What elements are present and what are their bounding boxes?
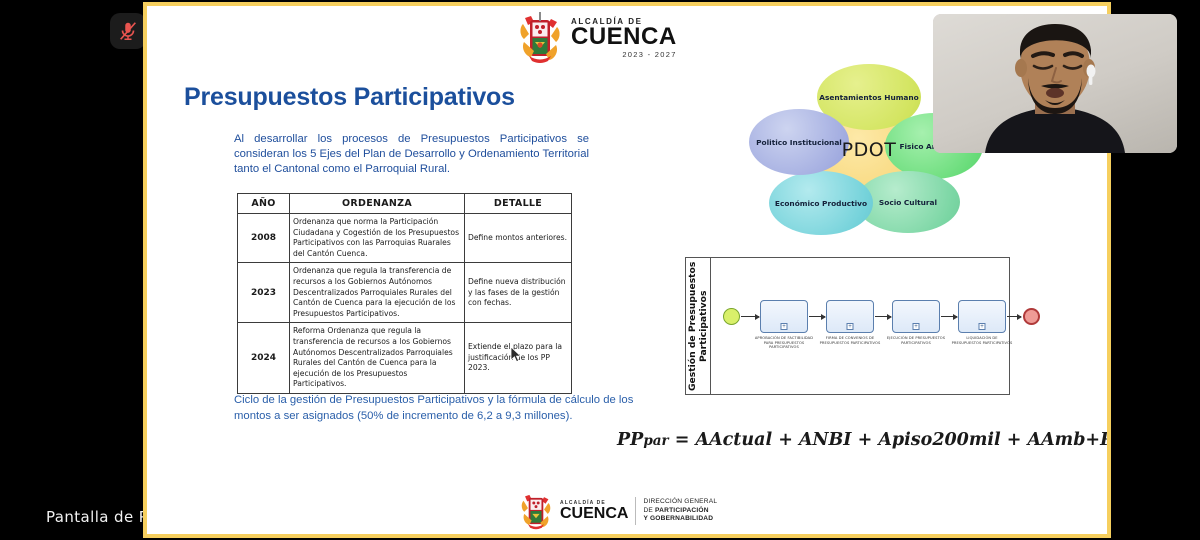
table-header-ordenanza: ORDENANZA xyxy=(290,194,465,214)
meeting-stage: Pantalla de P xyxy=(0,0,1200,540)
pdot-bubble-label: Socio Cultural xyxy=(879,198,937,207)
bpmn-task-label: APROBACIÓN DE FACTIBILIDAD PARA PRESUPUE… xyxy=(753,336,815,350)
cuenca-coat-of-arms-icon xyxy=(519,492,553,530)
brand-line-2: CUENCA xyxy=(571,26,677,49)
table-header-detalle: DETALLE xyxy=(465,194,572,214)
bpmn-task-expand-icon: + xyxy=(979,323,986,330)
ordinances-table: AÑO ORDENANZA DETALLE 2008 Ordenanza que… xyxy=(237,193,572,394)
microphone-muted-badge[interactable] xyxy=(110,13,146,49)
cuenca-coat-of-arms-icon xyxy=(517,12,563,64)
bpmn-arrow xyxy=(741,316,759,317)
bpmn-lane-title-text: Gestión de Presupuestos Participativos xyxy=(687,258,709,394)
pdot-bubble-economico: Económico Productivo xyxy=(769,171,873,235)
footer-dept-line-3: Y GOBERNABILIDAD xyxy=(643,515,717,524)
bpmn-arrow xyxy=(875,316,891,317)
bpmn-lane-title: Gestión de Presupuestos Participativos xyxy=(686,258,711,394)
screen-share-label: Pantalla de P xyxy=(46,508,148,526)
table-row: 2023 Ordenanza que regula la transferenc… xyxy=(238,263,572,323)
bpmn-task-expand-icon: + xyxy=(781,323,788,330)
bpmn-arrow xyxy=(941,316,957,317)
bpmn-end-event xyxy=(1023,308,1040,325)
table-header-row: AÑO ORDENANZA DETALLE xyxy=(238,194,572,214)
bpmn-task-expand-icon: + xyxy=(847,323,854,330)
cell-detalle: Define nueva distribución y las fases de… xyxy=(465,263,572,323)
bpmn-start-event xyxy=(723,308,740,325)
microphone-muted-icon xyxy=(117,20,139,42)
bpmn-task-expand-icon: + xyxy=(913,323,920,330)
cell-year: 2008 xyxy=(238,214,290,263)
brand-lockup-header: ALCALDÍA DE CUENCA 2023 - 2027 xyxy=(517,12,677,64)
brand-years: 2023 - 2027 xyxy=(571,50,677,59)
cell-year: 2024 xyxy=(238,323,290,394)
table-row: 2008 Ordenanza que norma la Participació… xyxy=(238,214,572,263)
bpmn-task-label: LIQUIDACIÓN DE PRESUPUESTOS PARTICIPATIV… xyxy=(951,336,1013,345)
pdot-bubble-label: Asentamientos Humano xyxy=(819,93,918,102)
footer-divider xyxy=(635,497,636,525)
video-participant-tile[interactable] xyxy=(933,14,1177,153)
bpmn-task: + xyxy=(958,300,1006,333)
formula-expression: PPpar = AActual + ANBI + Apiso200mil + A… xyxy=(617,430,1097,450)
formula-lhs: PP xyxy=(617,430,643,450)
bpmn-canvas: + APROBACIÓN DE FACTIBILIDAD PARA PRESUP… xyxy=(711,258,1009,394)
video-participant-figure xyxy=(933,14,1177,153)
bpmn-arrow xyxy=(809,316,825,317)
formula-lhs-subscript: par xyxy=(643,433,668,449)
closing-paragraph: Ciclo de la gestión de Presupuestos Part… xyxy=(234,392,664,424)
page-title: Presupuestos Participativos xyxy=(184,83,515,112)
mouse-cursor xyxy=(510,346,522,363)
bpmn-process-diagram: Gestión de Presupuestos Participativos +… xyxy=(685,257,1010,395)
bpmn-task-label: EJECUCIÓN DE PRESUPUESTOS PARTICIPATIVOS xyxy=(885,336,947,345)
bpmn-arrow xyxy=(1007,316,1021,317)
cell-year: 2023 xyxy=(238,263,290,323)
bpmn-task: + xyxy=(892,300,940,333)
bpmn-task: + xyxy=(760,300,808,333)
intro-paragraph: Al desarrollar los procesos de Presupues… xyxy=(234,132,589,177)
table-header-year: AÑO xyxy=(238,194,290,214)
brand-lockup-footer: ALCALDÍA DE CUENCA DIRECCIÓN GENERAL DE … xyxy=(519,492,717,530)
footer-dept-line-2: DE PARTICIPACIÓN xyxy=(643,507,717,516)
bpmn-task-label: FIRMA DE CONVENIOS DE PRESUPUESTOS PARTI… xyxy=(819,336,881,345)
cell-ordenanza: Reforma Ordenanza que regula la transfer… xyxy=(290,323,465,394)
footer-department: DIRECCIÓN GENERAL DE PARTICIPACIÓN Y GOB… xyxy=(643,498,717,524)
footer-dept-line-1: DIRECCIÓN GENERAL xyxy=(643,498,717,507)
footer-line-2: CUENCA xyxy=(560,506,628,522)
formula-body: = AActual + ANBI + Apiso200mil + AAmb+Po… xyxy=(675,430,1107,450)
cell-detalle: Define montos anteriores. xyxy=(465,214,572,263)
brand-wordmark: ALCALDÍA DE CUENCA 2023 - 2027 xyxy=(571,17,677,60)
cell-ordenanza: Ordenanza que regula la transferencia de… xyxy=(290,263,465,323)
bpmn-task: + xyxy=(826,300,874,333)
cell-ordenanza: Ordenanza que norma la Participación Ciu… xyxy=(290,214,465,263)
pdot-center-label: PDOT xyxy=(815,139,923,161)
pdot-bubble-label: Económico Productivo xyxy=(775,199,867,208)
footer-wordmark: ALCALDÍA DE CUENCA xyxy=(560,500,628,522)
